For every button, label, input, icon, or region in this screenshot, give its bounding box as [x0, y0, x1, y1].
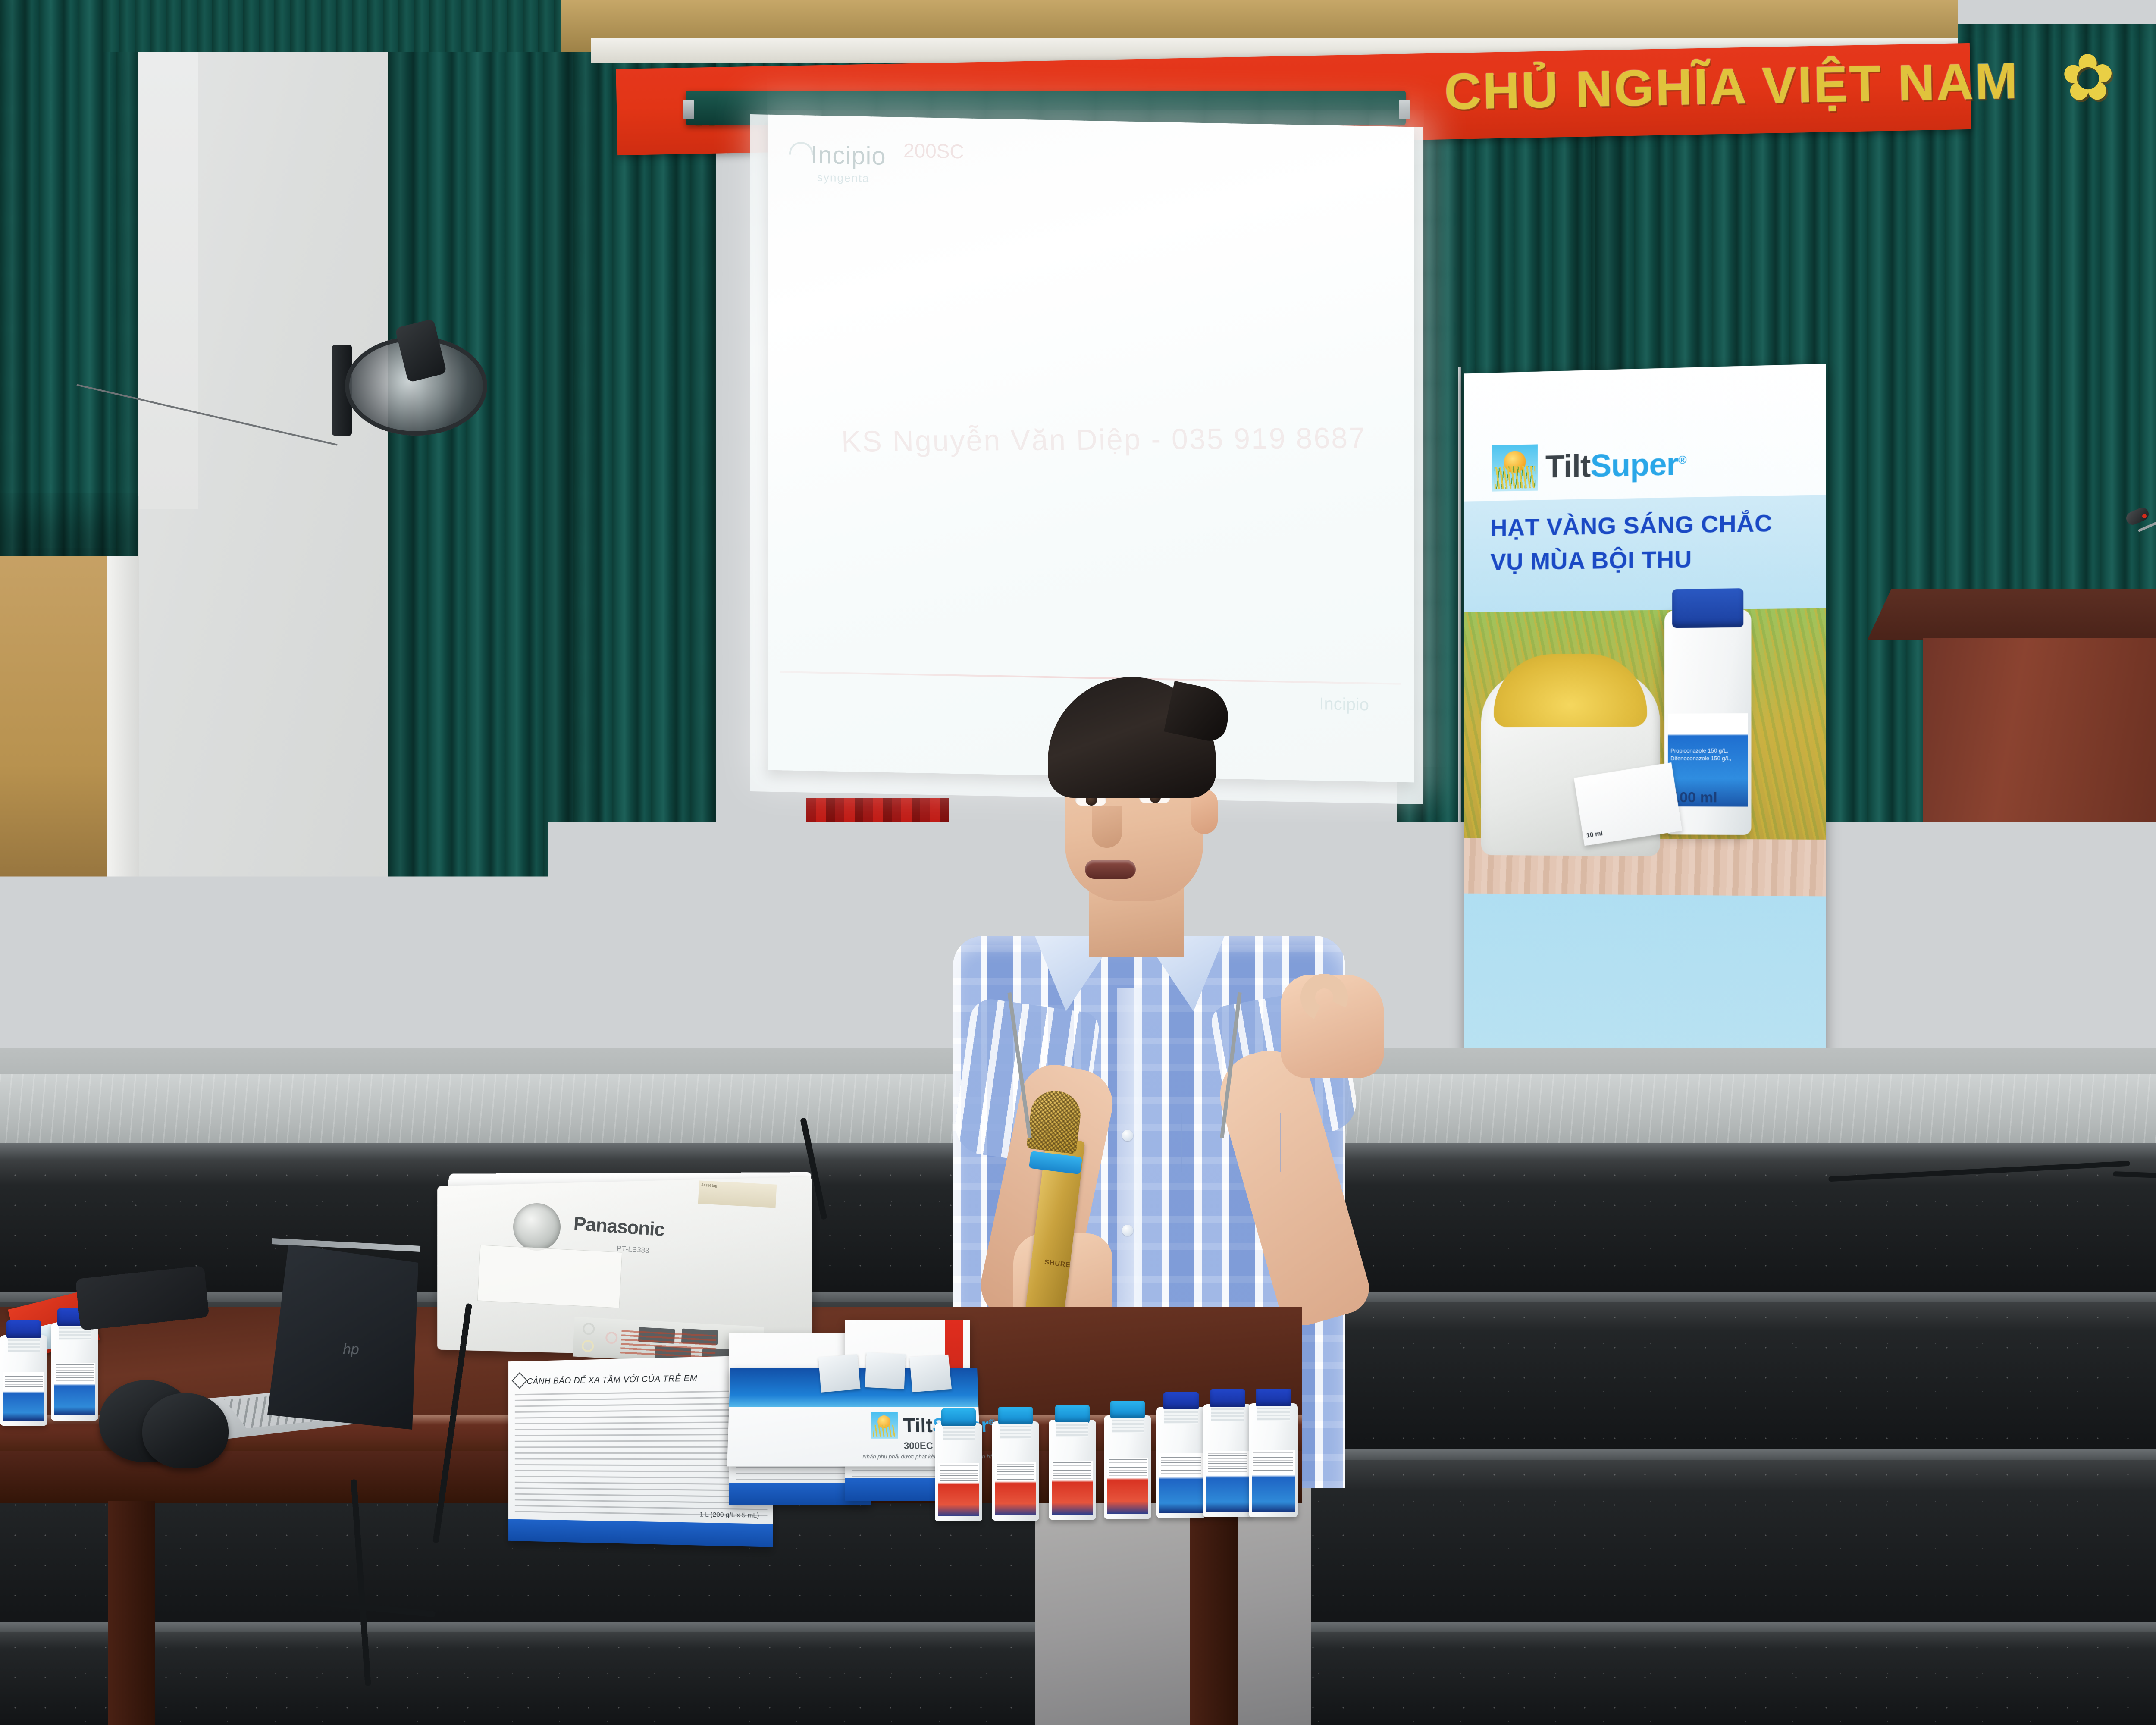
slide-title: Incipio: [811, 141, 886, 171]
desktop-speaker-2[interactable]: [142, 1393, 229, 1468]
product-bottle[interactable]: [1249, 1403, 1298, 1517]
tiltsuper-logo-icon: [1492, 444, 1538, 491]
bottle-neck: [943, 1426, 975, 1440]
bottle-label: [938, 1463, 980, 1516]
hall-banner-text: CHỦ NGHĨA VIỆT NAM: [1444, 52, 2019, 122]
box-warning-text: CẢNH BÁO ĐỂ XA TẦM VỚI CỦA TRẺ EM: [527, 1374, 698, 1386]
bottle-cap: [941, 1408, 975, 1427]
tiltsuper-box-logo-icon: [871, 1412, 898, 1439]
podium-base: [1867, 931, 2156, 979]
bottle-neck: [1000, 1424, 1032, 1439]
speaker-nose: [1092, 806, 1122, 848]
projector-safety-label: [477, 1245, 622, 1308]
bottle-cap: [1110, 1401, 1144, 1419]
bottle-neck: [1056, 1422, 1089, 1437]
rca-port-yellow[interactable]: [581, 1340, 594, 1352]
shirt-button: [1122, 1130, 1133, 1141]
tiltsuper-box-brand-tilt: Tilt: [903, 1414, 933, 1436]
bottle-neck: [1112, 1418, 1144, 1433]
slide-subtitle: syngenta: [817, 171, 870, 185]
bottle-cap: [1210, 1389, 1245, 1408]
laptop-brand-logo: hp: [343, 1341, 359, 1358]
bottle-label: [3, 1372, 45, 1421]
bottle-neck: [1211, 1407, 1244, 1421]
podium-mic-indicator: [2142, 514, 2147, 518]
curtain-stage-left: [573, 52, 716, 1069]
product-bottle[interactable]: [935, 1423, 982, 1521]
rollup-tagline-2: VỤ MÙA BỘI THU: [1490, 545, 1692, 575]
screen-case-end-right: [1399, 100, 1410, 119]
sachet-item[interactable]: [818, 1354, 861, 1393]
wheat-icon: [1495, 466, 1535, 489]
product-bottle[interactable]: [1049, 1420, 1096, 1520]
tiltsuper-box-formulation: 300EC: [904, 1440, 933, 1452]
door-jamb: [107, 496, 139, 979]
rollup-tagline-1: HẠT VÀNG SÁNG CHẮC: [1490, 509, 1772, 542]
projector-asset-sticker: Asset tag: [698, 1180, 777, 1207]
rollup-brand-tilt: Tilt: [1545, 448, 1590, 485]
speaker-mouth: [1085, 860, 1136, 879]
product-bottle[interactable]: [1156, 1407, 1206, 1518]
bottle-label: [995, 1462, 1037, 1515]
bottle-neck: [1257, 1406, 1290, 1421]
projector-vent: [620, 1330, 717, 1360]
podium-front[interactable]: [1923, 638, 2156, 936]
caution-diamond-icon: [512, 1372, 528, 1389]
bottle-neck: [8, 1338, 40, 1352]
sachet-item[interactable]: [865, 1352, 906, 1389]
product-bottle[interactable]: [1104, 1415, 1151, 1519]
laptop-lid[interactable]: [267, 1244, 418, 1430]
bottle-cap: [998, 1407, 1032, 1425]
bottle-label: [1252, 1450, 1295, 1512]
rollup-brand-reg: ®: [1678, 453, 1686, 466]
rollup-bottle-cap: [1672, 588, 1743, 628]
photograph-scene: CHỦ NGHĨA VIỆT NAM ✿ ✿ Incipio 200SC syn…: [0, 0, 2156, 1725]
slide-presenter-contact: KS Nguyễn Văn Diệp - 035 919 8687: [832, 421, 1376, 458]
table-leg-right: [1190, 1501, 1238, 1725]
bottle-label: [1159, 1453, 1203, 1513]
bottle-label: [1052, 1461, 1094, 1515]
rca-port-video[interactable]: [583, 1323, 595, 1335]
curtain-left: [388, 0, 573, 1104]
rca-port-red[interactable]: [605, 1331, 618, 1344]
slide-title-suffix: 200SC: [903, 139, 964, 163]
bottle-cap: [1055, 1405, 1089, 1423]
sachet-item[interactable]: [909, 1355, 952, 1392]
wheat-icon: [873, 1425, 896, 1437]
product-bottle-side[interactable]: [51, 1323, 98, 1421]
product-bottle-side[interactable]: [0, 1335, 47, 1426]
incipio-arc-icon: [789, 142, 813, 155]
doorway[interactable]: [0, 513, 108, 970]
rollup-bottle-volume: 100 ml: [1671, 789, 1717, 806]
product-bottle[interactable]: [992, 1421, 1039, 1521]
bottle-label: [1206, 1451, 1249, 1512]
screen-case-end-left: [683, 100, 694, 119]
rollup-bottle-ingredients-2: Difenoconazole 150 g/L,: [1670, 755, 1745, 762]
curtain-far-left: [0, 0, 138, 556]
product-bottle[interactable]: [1203, 1404, 1252, 1517]
table-leg-left: [108, 1501, 155, 1725]
shirt-button: [1122, 1225, 1133, 1236]
box-volume-text: 1 L (200 g/L x 5 mL): [699, 1511, 759, 1519]
bottle-neck: [1164, 1409, 1198, 1424]
gold-lotus-icon: ✿: [2060, 44, 2116, 110]
podium-top: [1867, 589, 2156, 640]
rollup-sachet-volume: 10 ml: [1586, 830, 1603, 840]
bottle-cap: [1163, 1392, 1199, 1410]
bottle-label: [1107, 1458, 1149, 1514]
bottle-label: [54, 1363, 96, 1415]
bottle-cap: [1256, 1389, 1291, 1407]
projector-lens: [513, 1203, 561, 1251]
rollup-brand-super: Super: [1590, 446, 1678, 483]
rollup-bottle-ingredients: Propiconazole 150 g/L,: [1670, 747, 1745, 755]
bottle-cap: [6, 1320, 41, 1339]
rollup-brand: TiltSuper®: [1545, 448, 1686, 483]
